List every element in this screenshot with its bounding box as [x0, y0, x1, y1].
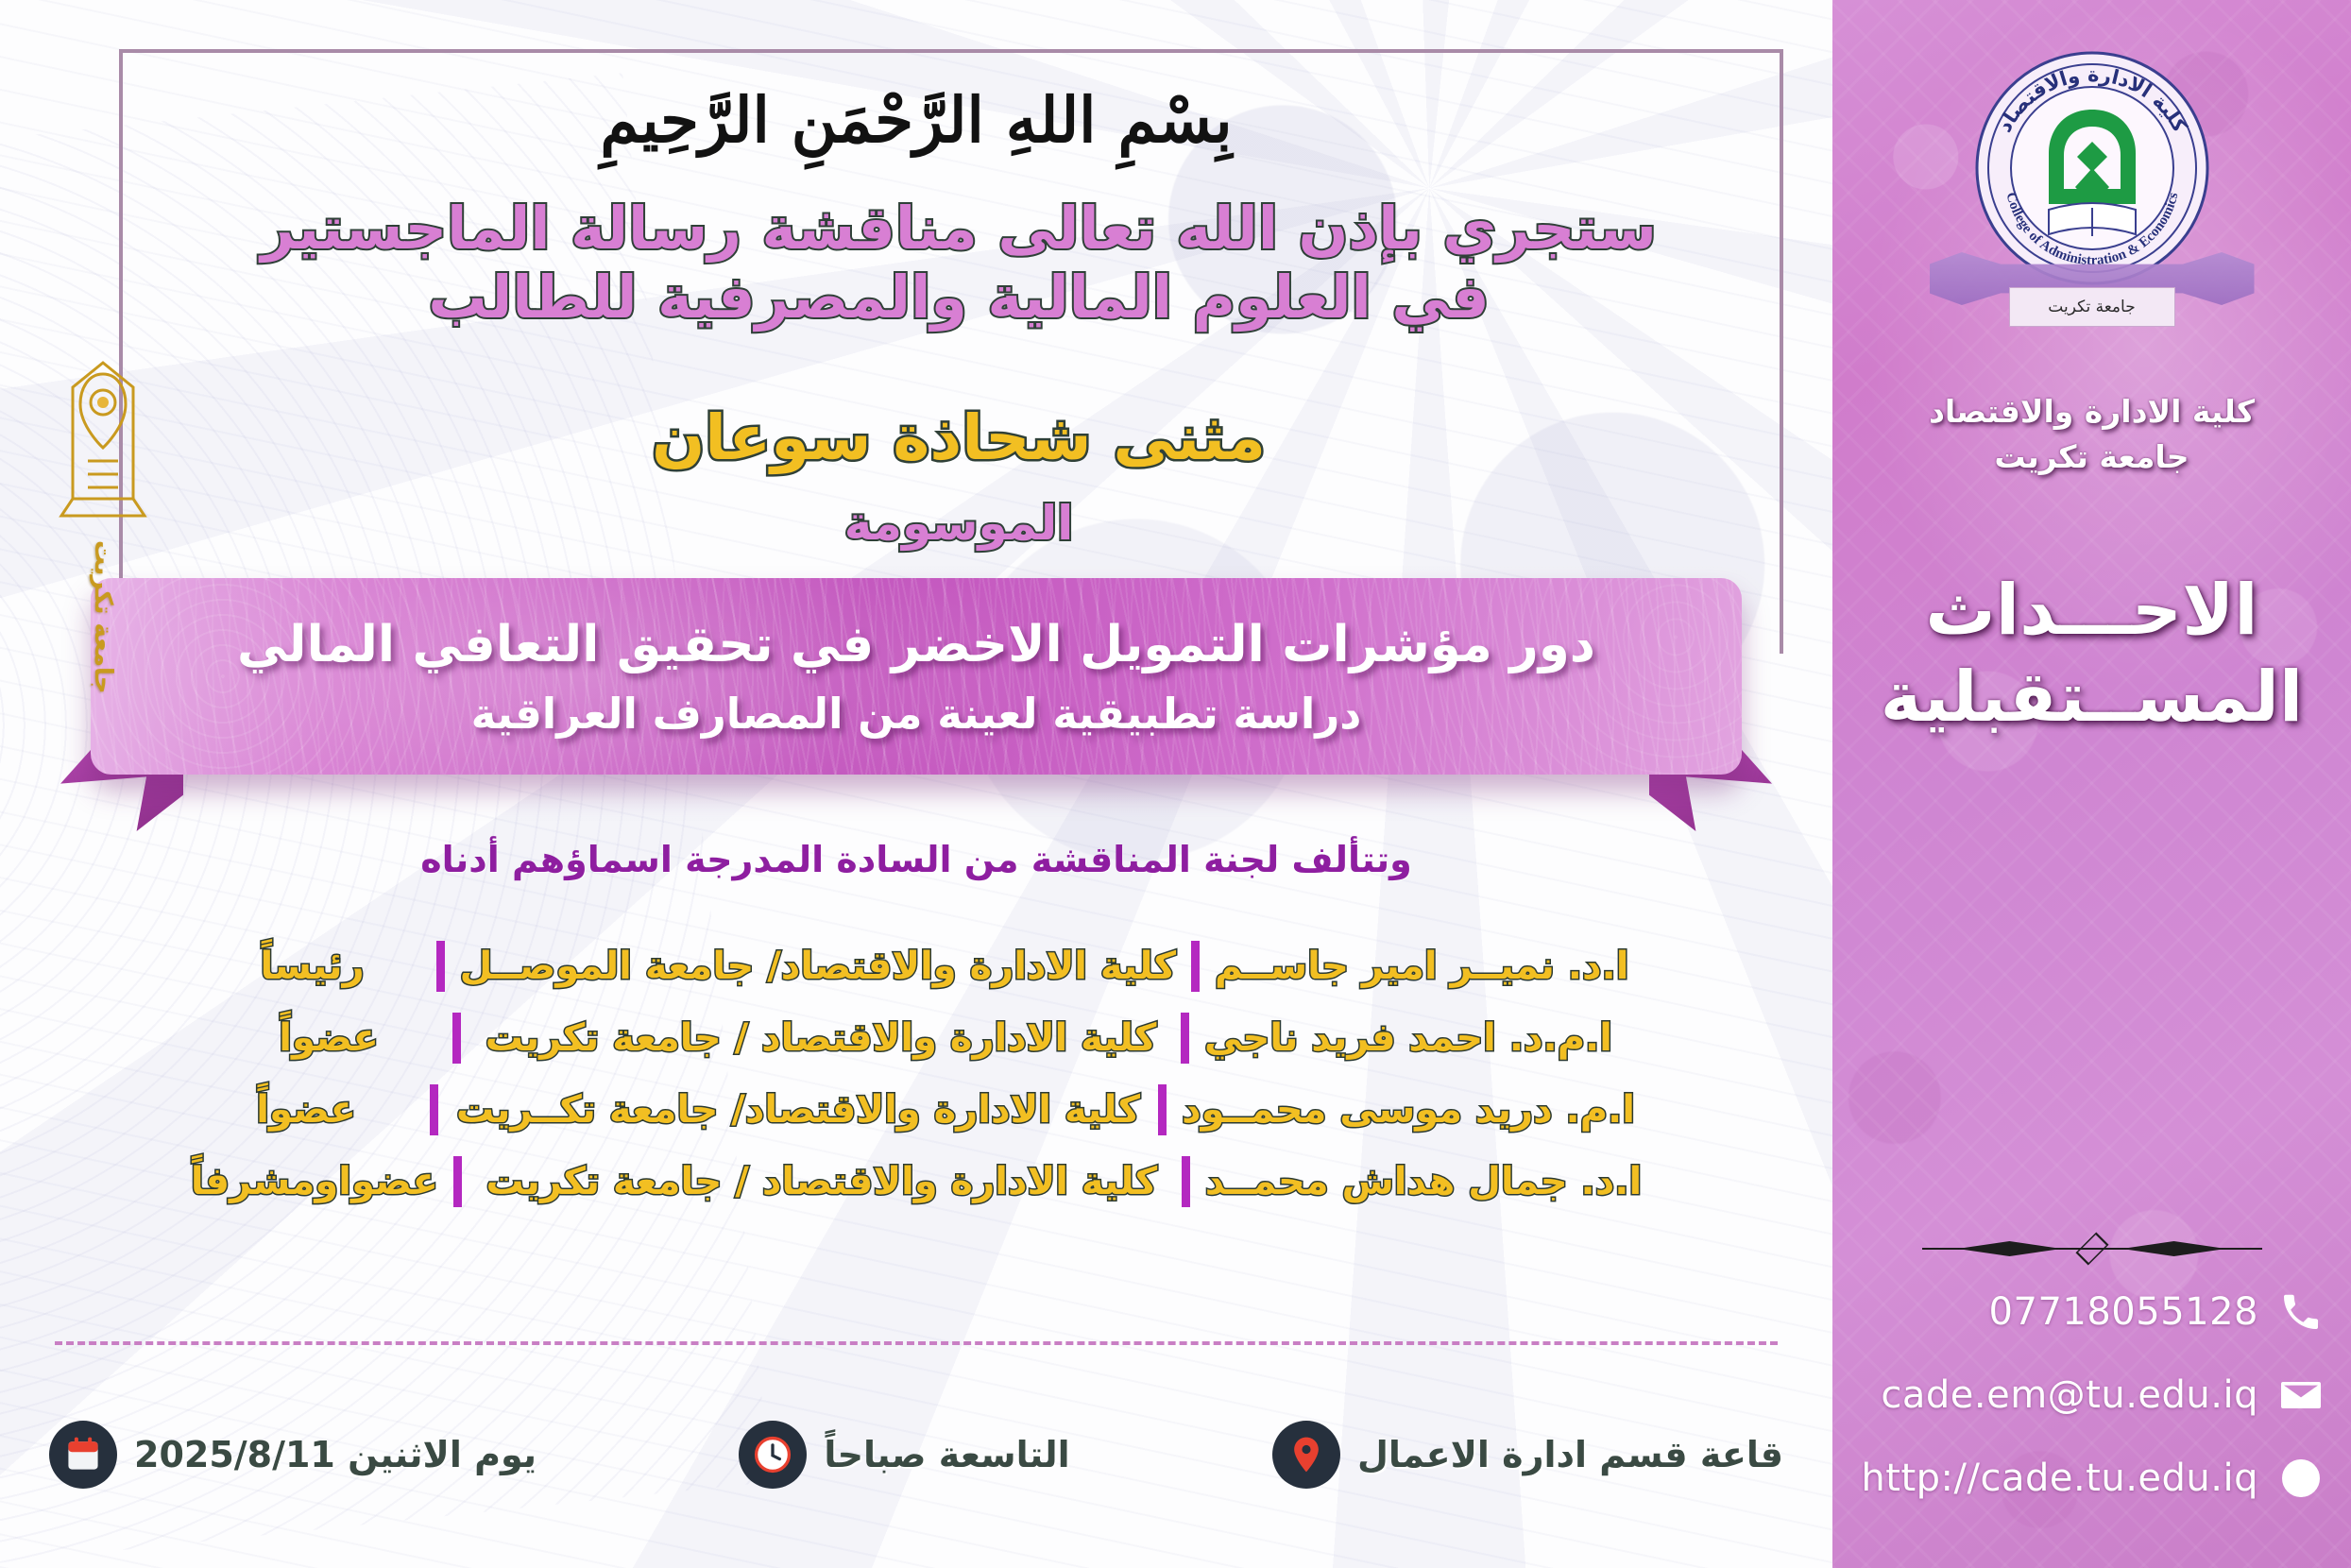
- ornament-divider-icon: [1922, 1236, 2262, 1262]
- announcement-poster: جامعة تكريت بِسْمِ اللهِ الرَّحْمَنِ الر…: [0, 0, 2351, 1568]
- member-name: ا.د. نميــر امير جاســم: [1215, 945, 1628, 988]
- member-role: رئيساً: [204, 945, 421, 988]
- committee-intro-text: وتتألف لجنة المناقشة من السادة المدرجة ا…: [0, 839, 1832, 880]
- footer-date: يوم الاثنين 2025/8/11: [49, 1421, 537, 1489]
- member-affiliation: كلية الادارة والاقتصاد/ جامعة الموصــل: [460, 945, 1176, 988]
- sidebar-college-heading: كلية الادارة والاقتصاد جامعة تكريت: [1929, 389, 2255, 480]
- row-separator: [1191, 941, 1200, 992]
- emblem-label: جامعة تكريت: [89, 540, 117, 693]
- logo-ribbon-text: جامعة تكريت: [2009, 287, 2175, 327]
- contact-email[interactable]: cade.em@tu.edu.iq: [1857, 1370, 2326, 1421]
- main-panel: جامعة تكريت بِسْمِ اللهِ الرَّحْمَنِ الر…: [0, 0, 1832, 1568]
- footer-divider: [55, 1341, 1778, 1345]
- member-role: عضواومشرفاً: [191, 1160, 438, 1203]
- tikrit-university-emblem: جامعة تكريت: [32, 357, 174, 640]
- committee-row: ا.د. نميــر امير جاســم كلية الادارة وال…: [57, 941, 1776, 992]
- main-content: بِسْمِ اللهِ الرَّحْمَنِ الرَّحِيمِ ستجر…: [0, 0, 1832, 1568]
- member-role: عضواً: [220, 1016, 437, 1060]
- sidebar: كلية الادارة والاقتصاد College of Admini…: [1832, 0, 2351, 1568]
- headline-line-2: في العلوم المالية والمصرفية للطالب: [142, 263, 1776, 332]
- row-separator: [430, 1084, 438, 1135]
- globe-icon: [2275, 1453, 2326, 1504]
- mawsuma-label: الموسومة: [142, 496, 1776, 551]
- footer-location: قاعة قسم ادارة الاعمال: [1272, 1421, 1783, 1489]
- footer-time: التاسعة صباحاً: [739, 1421, 1069, 1489]
- calendar-icon: [49, 1421, 117, 1489]
- phone-text: 07718055128: [1989, 1290, 2258, 1334]
- committee-row: ا.م. دريد موسى محمــود كلية الادارة والا…: [57, 1084, 1776, 1135]
- member-name: ا.م. دريد موسى محمــود: [1182, 1088, 1635, 1132]
- basmala-text: بِسْمِ اللهِ الرَّحْمَنِ الرَّحِيمِ: [0, 83, 1832, 157]
- member-name: ا.د. جمال هداش محمــد: [1205, 1160, 1642, 1203]
- sidebar-events-heading: الاحـــداث المســتقبلية: [1881, 567, 2304, 741]
- university-emblem-icon: [46, 357, 160, 527]
- headline-line-1: ستجري بإذن الله تعالى مناقشة رسالة الماج…: [142, 194, 1776, 263]
- committee-row: ا.م.د. احمد فريد ناجي كلية الادارة والاق…: [57, 1013, 1776, 1064]
- clock-icon: [739, 1421, 807, 1489]
- sidebar-contacts: 07718055128 cade.em@tu.edu.iq http://cad…: [1832, 1287, 2351, 1568]
- row-separator: [452, 1013, 461, 1064]
- time-text: التاسعة صباحاً: [824, 1434, 1069, 1475]
- college-seal-logo: كلية الادارة والاقتصاد College of Admini…: [1951, 36, 2234, 319]
- committee-list: ا.د. نميــر امير جاســم كلية الادارة وال…: [57, 941, 1776, 1228]
- row-separator: [1181, 1013, 1189, 1064]
- row-separator: [1182, 1156, 1190, 1207]
- website-text: http://cade.tu.edu.iq: [1861, 1457, 2258, 1500]
- date-text: يوم الاثنين 2025/8/11: [134, 1434, 537, 1475]
- row-separator: [1158, 1084, 1167, 1135]
- map-pin-icon: [1272, 1421, 1340, 1489]
- student-name: مثنى شحاذة سوعان: [142, 401, 1776, 474]
- college-line-1: كلية الادارة والاقتصاد: [1929, 389, 2255, 435]
- member-name: ا.م.د. احمد فريد ناجي: [1204, 1016, 1612, 1060]
- member-affiliation: كلية الادارة والاقتصاد / جامعة تكريت: [477, 1160, 1167, 1203]
- committee-row: ا.د. جمال هداش محمــد كلية الادارة والاق…: [57, 1156, 1776, 1207]
- row-separator: [436, 941, 445, 992]
- email-text: cade.em@tu.edu.iq: [1881, 1373, 2258, 1417]
- location-text: قاعة قسم ادارة الاعمال: [1357, 1434, 1783, 1475]
- contact-phone[interactable]: 07718055128: [1857, 1287, 2326, 1338]
- college-line-2: جامعة تكريت: [1929, 435, 2255, 480]
- events-line-2: المســتقبلية: [1881, 654, 2304, 741]
- member-role: عضواً: [197, 1088, 415, 1132]
- events-line-1: الاحـــداث: [1881, 567, 2304, 655]
- headline-block: ستجري بإذن الله تعالى مناقشة رسالة الماج…: [142, 194, 1776, 332]
- member-affiliation: كلية الادارة والاقتصاد/ جامعة تكــريت: [453, 1088, 1143, 1132]
- thesis-title: دور مؤشرات التمويل الاخضر في تحقيق التعا…: [237, 614, 1595, 676]
- phone-icon: [2275, 1287, 2326, 1338]
- member-affiliation: كلية الادارة والاقتصاد / جامعة تكريت: [476, 1016, 1166, 1060]
- footer-bar: قاعة قسم ادارة الاعمال التاسعة صباحاً: [38, 1389, 1795, 1521]
- email-icon: [2275, 1370, 2326, 1421]
- thesis-subtitle: دراسة تطبيقية لعينة من المصارف العراقية: [471, 689, 1362, 739]
- contact-website[interactable]: http://cade.tu.edu.iq: [1857, 1453, 2326, 1504]
- thesis-title-banner: دور مؤشرات التمويل الاخضر في تحقيق التعا…: [91, 578, 1742, 775]
- row-separator: [453, 1156, 462, 1207]
